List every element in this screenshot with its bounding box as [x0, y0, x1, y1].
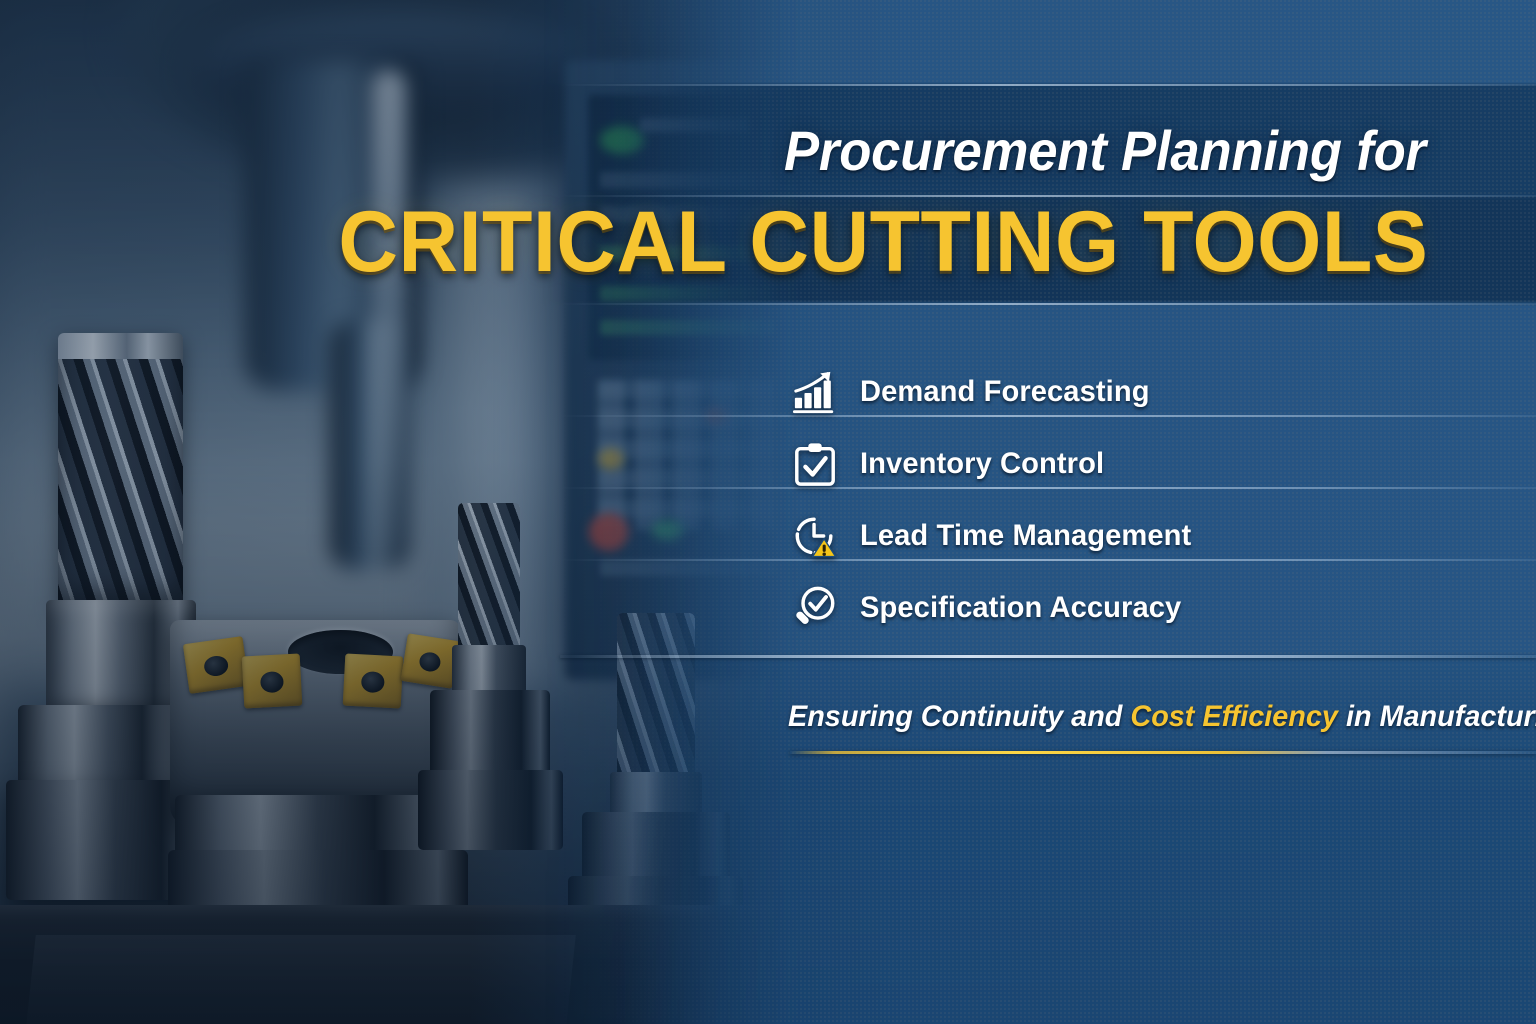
- tagline-part-2: in Manufacturing: [1346, 700, 1536, 733]
- feature-label: Lead Time Management: [860, 519, 1191, 553]
- feature-item-demand-forecasting[interactable]: Demand Forecasting: [792, 356, 1432, 428]
- clipboard-check-icon: [792, 441, 838, 487]
- banner-kicker: Procurement Planning for: [784, 118, 1426, 183]
- banner-content: Procurement Planning for CRITICAL CUTTIN…: [0, 0, 1536, 1024]
- tagline-part-1: Ensuring Continuity and: [788, 700, 1122, 733]
- feature-label: Demand Forecasting: [860, 375, 1150, 409]
- clock-warning-icon: [792, 513, 838, 559]
- bar-chart-growth-icon: [792, 369, 838, 415]
- banner: Procurement Planning for CRITICAL CUTTIN…: [0, 0, 1536, 1024]
- feature-list: Demand Forecasting Inventory Control: [792, 356, 1432, 644]
- magnifier-check-icon: [792, 585, 838, 631]
- tagline-highlight: Cost Efficiency: [1130, 700, 1338, 733]
- banner-headline: CRITICAL CUTTING TOOLS: [338, 199, 1428, 285]
- feature-label: Specification Accuracy: [860, 591, 1181, 625]
- tagline-underline: [790, 751, 1536, 754]
- feature-label: Inventory Control: [860, 447, 1104, 481]
- feature-item-specification-accuracy[interactable]: Specification Accuracy: [792, 572, 1432, 644]
- banner-tagline: Ensuring Continuity and Cost Efficiency …: [788, 700, 1536, 734]
- feature-item-inventory-control[interactable]: Inventory Control: [792, 428, 1432, 500]
- feature-item-lead-time-management[interactable]: Lead Time Management: [792, 500, 1432, 572]
